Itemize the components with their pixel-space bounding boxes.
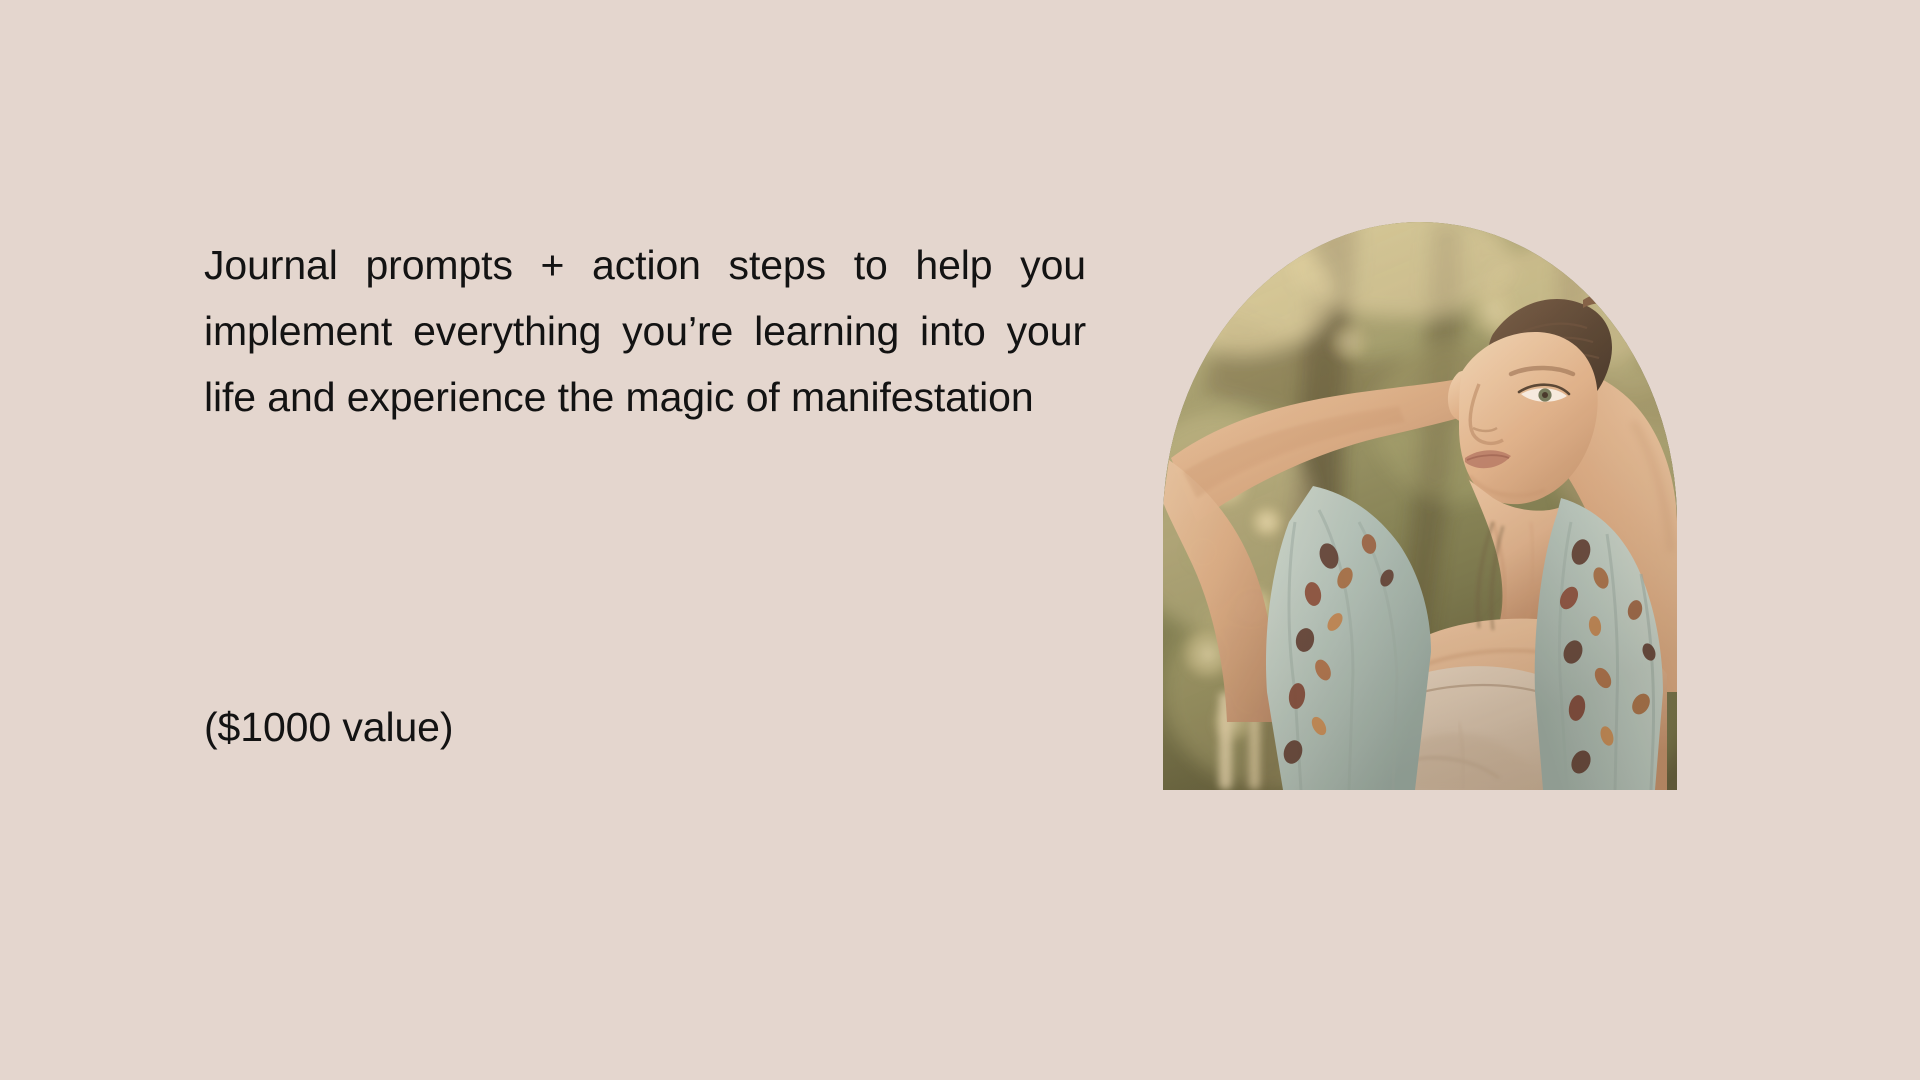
slide-canvas: Journal prompts + action steps to help y… — [0, 0, 1920, 1080]
value-note: ($1000 value) — [204, 701, 453, 753]
portrait-photo-illustration — [1163, 222, 1677, 790]
arch-photo — [1163, 222, 1677, 790]
body-copy-paragraph: Journal prompts + action steps to help y… — [204, 232, 1086, 430]
copy-block: Journal prompts + action steps to help y… — [204, 232, 1086, 430]
